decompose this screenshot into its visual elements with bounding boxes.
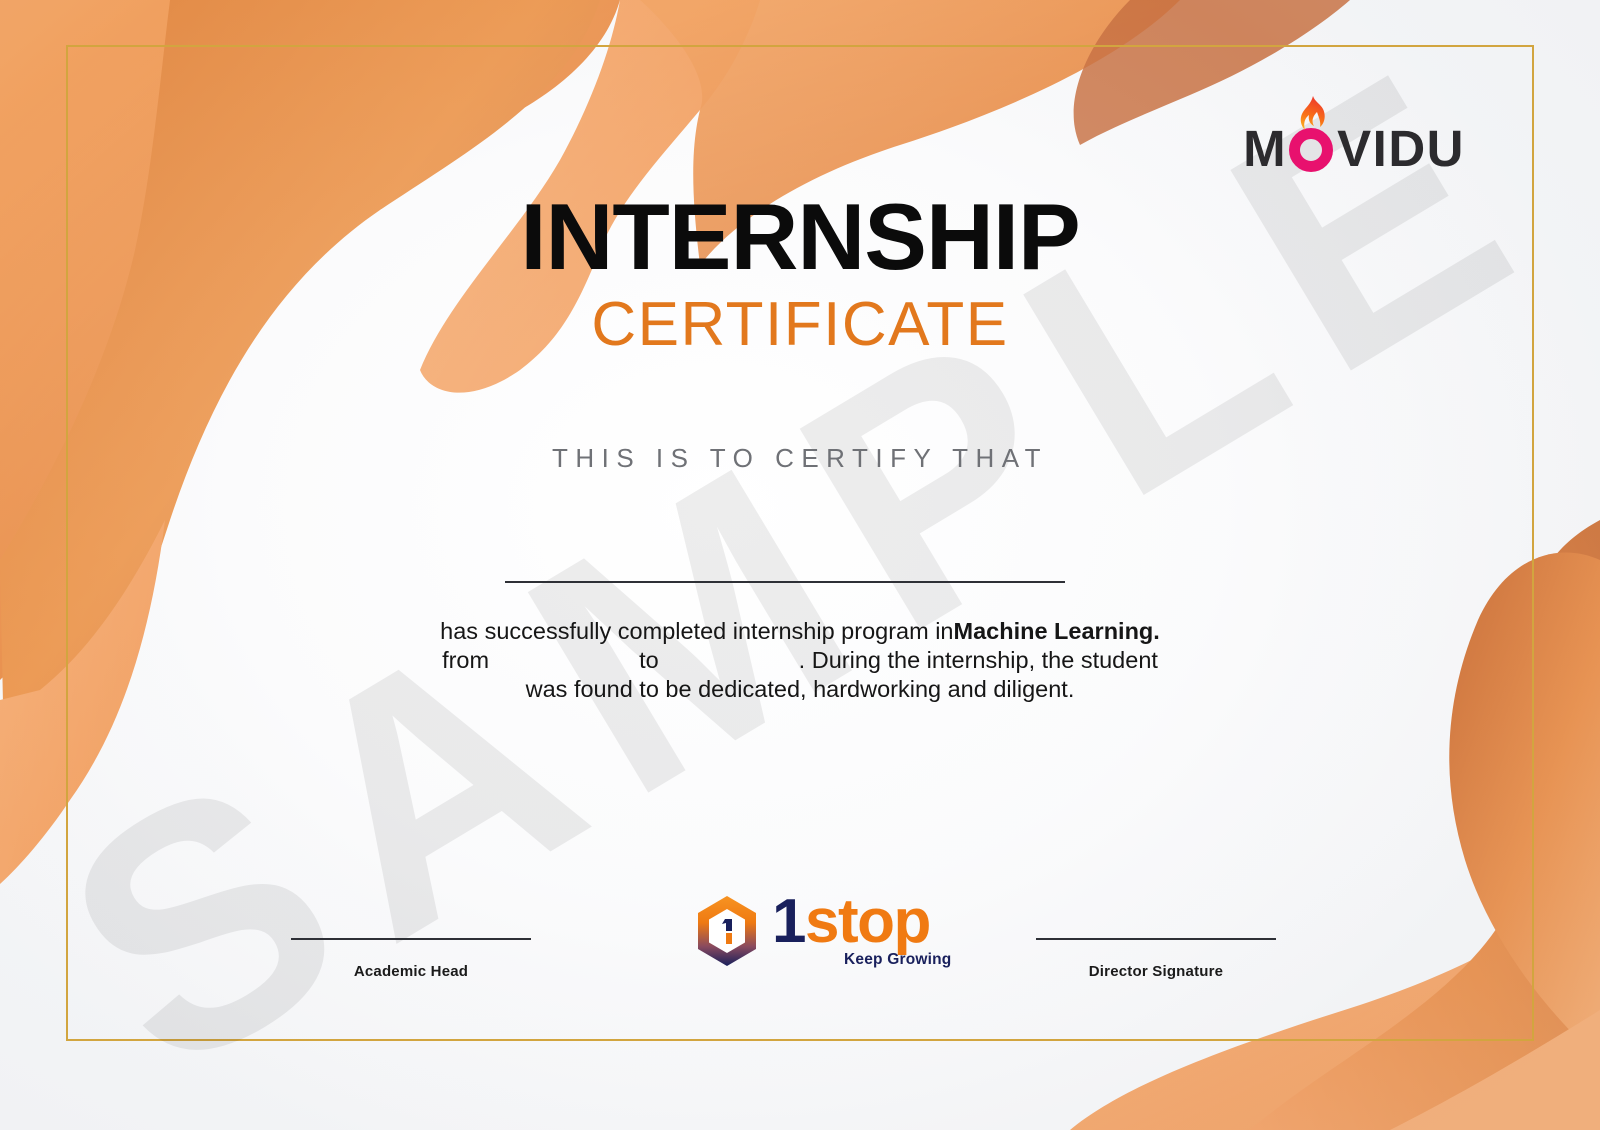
program-name: Machine Learning. — [954, 618, 1160, 644]
body-line-1: has successfully completed internship pr… — [300, 617, 1300, 646]
movidu-letters-vidu: VIDU — [1337, 123, 1465, 174]
body-line-2: fromto. During the internship, the stude… — [300, 646, 1300, 675]
title-internship: INTERNSHIP — [0, 190, 1600, 284]
signature-block-academic-head: Academic Head — [291, 938, 531, 980]
academic-head-label: Academic Head — [291, 963, 531, 980]
body-line-3: was found to be dedicated, hardworking a… — [300, 675, 1300, 704]
title-certificate: CERTIFICATE — [0, 292, 1600, 357]
onestop-numeral: 1 — [772, 887, 805, 956]
onestop-logo: 1stop Keep Growing — [690, 893, 772, 969]
director-signature-label: Director Signature — [1036, 963, 1276, 980]
onestop-name: 1stop — [772, 891, 930, 953]
onestop-word: stop — [805, 887, 930, 956]
flame-icon — [1289, 126, 1335, 172]
onestop-hexagon-badge — [690, 893, 764, 969]
signature-block-director: Director Signature — [1036, 938, 1276, 980]
onestop-tagline: Keep Growing — [844, 951, 951, 969]
flame-glyph — [1296, 96, 1328, 136]
movidu-letter-m: M — [1243, 123, 1287, 174]
certificate-body: has successfully completed internship pr… — [300, 617, 1300, 704]
academic-head-signature-line[interactable] — [291, 938, 531, 940]
body-line1-prefix: has successfully completed internship pr… — [440, 618, 953, 644]
certificate-content: M VIDU — [0, 0, 1600, 1130]
to-label: to — [639, 647, 659, 673]
certify-statement: THIS IS TO CERTIFY THAT — [0, 443, 1600, 474]
director-signature-line[interactable] — [1036, 938, 1276, 940]
recipient-name-line[interactable] — [505, 581, 1065, 583]
page-title: INTERNSHIP CERTIFICATE — [0, 190, 1600, 357]
body-line2-suffix: . During the internship, the student — [799, 647, 1158, 673]
movidu-wordmark: M VIDU — [1243, 123, 1465, 174]
movidu-logo: M VIDU — [1243, 112, 1465, 174]
certificate-canvas: SAMPLE M — [0, 0, 1600, 1130]
from-label: from — [442, 647, 489, 673]
